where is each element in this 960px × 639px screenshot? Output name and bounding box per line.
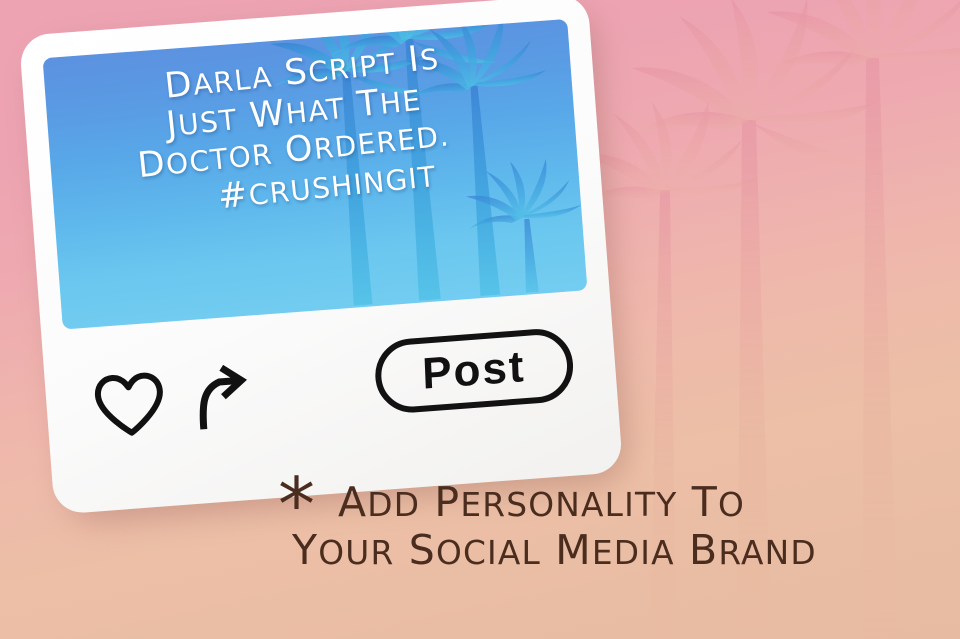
post-photo: DARLA SCRIPT IS JUST WHAT THE DOCTOR ORD…: [43, 19, 588, 330]
social-post-card: DARLA SCRIPT IS JUST WHAT THE DOCTOR ORD…: [19, 0, 623, 515]
poster-canvas: DARLA SCRIPT IS JUST WHAT THE DOCTOR ORD…: [0, 0, 960, 639]
heart-icon[interactable]: [90, 369, 169, 440]
asterisk-marker: *: [278, 468, 316, 542]
headline: * ADD PERSONALITY TO YOUR SOCIAL MEDIA B…: [276, 482, 936, 572]
headline-line-2: YOUR SOCIAL MEDIA BRAND: [276, 530, 936, 572]
share-arrow-icon[interactable]: [190, 362, 253, 434]
headline-line-1: ADD PERSONALITY TO: [276, 482, 936, 524]
post-button[interactable]: Post: [373, 327, 576, 416]
post-button-label: Post: [422, 342, 527, 400]
card-body: DARLA SCRIPT IS JUST WHAT THE DOCTOR ORD…: [19, 0, 623, 515]
engagement-actions: [90, 362, 253, 442]
